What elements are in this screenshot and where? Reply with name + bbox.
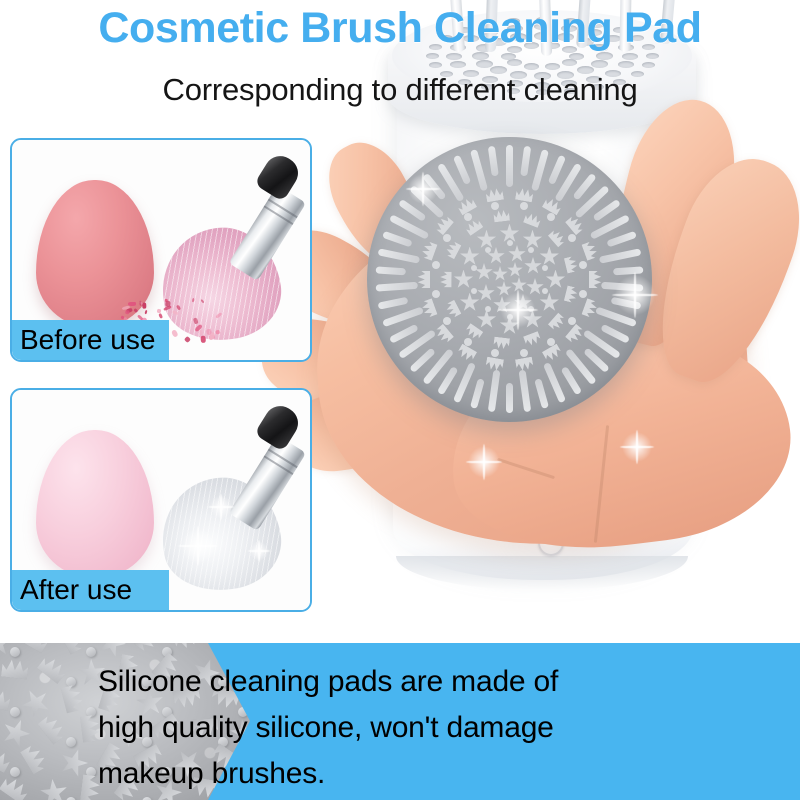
pad-crown-relief <box>548 312 567 332</box>
pad-star-relief <box>460 247 480 267</box>
clean-sponge <box>36 430 154 578</box>
footer-line-1: Silicone cleaning pads are made of <box>98 659 598 705</box>
pad-radial-ridge <box>378 248 421 263</box>
comparison-card-before: Before use <box>10 138 312 362</box>
pad-radial-ridge <box>600 324 630 344</box>
dirty-sponge <box>36 180 154 328</box>
pad-star-relief <box>477 284 495 302</box>
pad-star-relief <box>508 245 526 263</box>
pad-dot-relief <box>528 306 534 312</box>
powder-speck <box>201 336 206 343</box>
pad-dot-relief <box>547 338 555 346</box>
texture-relief-shape <box>0 715 34 751</box>
pad-crown-relief <box>433 214 454 235</box>
pad-star-relief <box>524 257 542 275</box>
pad-star-relief <box>460 293 480 313</box>
pad-dot-relief <box>520 202 528 210</box>
texture-relief-shape <box>1 657 29 679</box>
lid-hole <box>562 59 577 66</box>
pad-crown-relief <box>433 324 454 345</box>
lid-hole <box>545 63 560 70</box>
texture-relief-shape <box>20 742 50 774</box>
pad-dot-relief <box>471 265 477 271</box>
pad-dot-relief <box>432 261 440 269</box>
dirty-brush <box>158 158 308 348</box>
pad-star-relief <box>526 278 544 296</box>
pad-star-relief <box>475 263 493 281</box>
powder-speck <box>142 303 146 309</box>
footer-strip: Silicone cleaning pads are made ofhigh q… <box>0 643 800 800</box>
pad-crown-relief <box>456 344 477 364</box>
pad-radial-ridge <box>606 231 637 248</box>
texture-relief-dot <box>66 737 76 747</box>
pad-crown-relief <box>523 211 542 228</box>
pad-radial-ridge <box>611 297 642 310</box>
lid-hole <box>507 59 522 66</box>
ferrule-band <box>264 455 294 475</box>
ferrule-band <box>268 199 298 219</box>
texture-relief-shape <box>134 643 164 655</box>
pad-radial-ridge <box>376 282 418 292</box>
brush-handle-tip <box>254 150 304 202</box>
pad-dot-relief <box>520 349 528 357</box>
texture-relief-shape <box>16 683 56 723</box>
lid-hole <box>524 63 539 70</box>
pad-dot-relief <box>568 234 576 242</box>
powder-speck <box>128 301 136 305</box>
lid-hole <box>596 52 613 60</box>
texture-relief-dot <box>10 647 20 657</box>
powder-speck <box>165 300 171 306</box>
lid-hole <box>426 53 439 59</box>
powder-speck <box>191 298 194 302</box>
pad-dot-relief <box>507 314 513 320</box>
lid-hole <box>646 53 659 59</box>
powder-speck <box>145 310 148 314</box>
pad-crown-relief <box>439 271 451 287</box>
silicone-cleaning-pad[interactable] <box>367 137 652 422</box>
pad-star-relief <box>493 296 511 314</box>
pad-crown-relief <box>515 187 534 203</box>
footer-line-3: makeup brushes. <box>98 751 598 797</box>
pad-crown-relief <box>564 255 579 273</box>
texture-relief-shape <box>61 684 86 714</box>
pad-dot-relief <box>464 213 472 221</box>
pad-radial-ridge <box>382 307 424 328</box>
comparison-card-after: After use <box>10 388 312 612</box>
pad-crown-relief <box>581 240 599 260</box>
texture-relief-shape <box>37 653 69 684</box>
pad-dot-relief <box>579 261 587 269</box>
pad-crown-relief <box>523 331 542 348</box>
pad-star-relief <box>477 309 497 329</box>
ferrule-band <box>264 205 294 225</box>
lid-hole <box>446 53 462 60</box>
pad-dot-relief <box>579 290 587 298</box>
caption-after: After use <box>12 570 169 610</box>
pad-dot-relief <box>485 306 491 312</box>
pad-radial-ridge <box>470 149 488 191</box>
pad-star-relief <box>496 281 512 297</box>
pad-radial-ridge <box>376 266 406 275</box>
pad-dot-relief <box>568 317 576 325</box>
pad-radial-ridge <box>548 155 566 185</box>
powder-speck <box>125 310 130 315</box>
lid-hole <box>622 53 638 60</box>
texture-relief-shape <box>38 712 69 744</box>
pad-dot-relief <box>547 213 555 221</box>
pad-crown-relief <box>565 214 586 235</box>
pad-radial-ridge <box>382 231 413 248</box>
lid-hole <box>642 62 655 68</box>
pad-dot-relief <box>528 247 534 253</box>
footer-line-2: high quality silicone, won't damage <box>98 705 598 751</box>
pad-dot-relief <box>443 317 451 325</box>
pad-radial-ridge <box>613 266 643 275</box>
pad-crown-relief <box>493 209 510 223</box>
pad-star-relief <box>523 309 543 329</box>
pad-dot-relief <box>491 202 499 210</box>
pad-radial-ridge <box>534 378 549 409</box>
pad-radial-ridge <box>378 297 409 310</box>
pad-radial-ridge <box>506 145 513 187</box>
powder-speck <box>139 300 142 305</box>
pad-dot-relief <box>542 288 548 294</box>
pad-radial-ridge <box>531 149 549 191</box>
texture-relief-shape <box>0 773 31 800</box>
texture-relief-dot <box>66 677 76 687</box>
texture-relief-dot <box>10 767 20 777</box>
footer-text: Silicone cleaning pads are made ofhigh q… <box>98 659 598 797</box>
pad-radial-ridge <box>595 307 637 328</box>
pad-radial-ridge <box>601 282 643 292</box>
page-title: Cosmetic Brush Cleaning Pad <box>0 4 800 53</box>
pad-star-relief <box>492 266 508 282</box>
pad-crown-relief <box>548 227 567 247</box>
texture-relief-shape <box>60 749 88 777</box>
pad-radial-ridge <box>488 370 501 413</box>
page-subtitle: Corresponding to different cleaning <box>0 72 800 108</box>
pad-crown-relief <box>444 299 462 318</box>
pad-crown-relief <box>485 187 504 203</box>
pad-crown-relief <box>417 271 430 288</box>
lid-hole <box>618 61 634 68</box>
texture-relief-shape <box>59 643 88 654</box>
lid-hole <box>501 53 516 60</box>
pad-crown-relief <box>565 324 586 345</box>
pad-crown-relief <box>420 240 438 260</box>
pad-dot-relief <box>471 288 477 294</box>
texture-relief-dot <box>10 707 20 717</box>
lid-hole <box>472 52 489 60</box>
ferrule-band <box>268 449 298 469</box>
pad-star-relief <box>539 247 559 267</box>
pad-star-relief <box>539 293 559 313</box>
pad-dot-relief <box>464 338 472 346</box>
pad-radial-ridge <box>488 146 499 177</box>
lid-hole <box>476 60 493 68</box>
pad-dot-relief <box>485 247 491 253</box>
texture-relief-shape <box>0 686 12 711</box>
pad-star-relief <box>511 277 527 293</box>
pad-dot-relief <box>507 240 513 246</box>
pad-radial-ridge <box>437 366 459 395</box>
pad-dot-relief <box>491 349 499 357</box>
lid-hole <box>450 61 466 68</box>
clean-brush <box>158 408 308 598</box>
pad-crown-relief <box>589 271 602 288</box>
pad-dot-relief <box>542 265 548 271</box>
pad-crown-relief <box>444 240 462 259</box>
pad-crown-relief <box>493 336 510 350</box>
pad-radial-ridge <box>470 378 485 409</box>
pad-radial-ridge <box>599 248 642 263</box>
pad-star-relief <box>454 270 474 290</box>
product-marketing-image: Cosmetic Brush Cleaning Pad Correspondin… <box>0 0 800 800</box>
pad-dot-relief <box>443 234 451 242</box>
texture-relief-shape <box>19 643 51 653</box>
pad-dot-relief <box>432 290 440 298</box>
brush-handle-tip <box>254 400 304 452</box>
pad-star-relief <box>546 270 566 290</box>
lid-hole <box>591 60 608 68</box>
pad-radial-ridge <box>453 155 471 185</box>
pad-crown-relief <box>564 286 579 304</box>
caption-before: Before use <box>12 320 169 360</box>
pad-crown-relief <box>542 344 563 364</box>
pad-radial-ridge <box>520 146 531 177</box>
pad-radial-ridge <box>506 383 513 413</box>
texture-relief-dot <box>86 647 96 657</box>
pad-star-relief <box>507 262 523 278</box>
lid-hole <box>429 62 442 68</box>
pad-radial-ridge <box>519 370 532 413</box>
texture-relief-shape <box>36 775 73 800</box>
texture-relief-shape <box>171 643 203 653</box>
